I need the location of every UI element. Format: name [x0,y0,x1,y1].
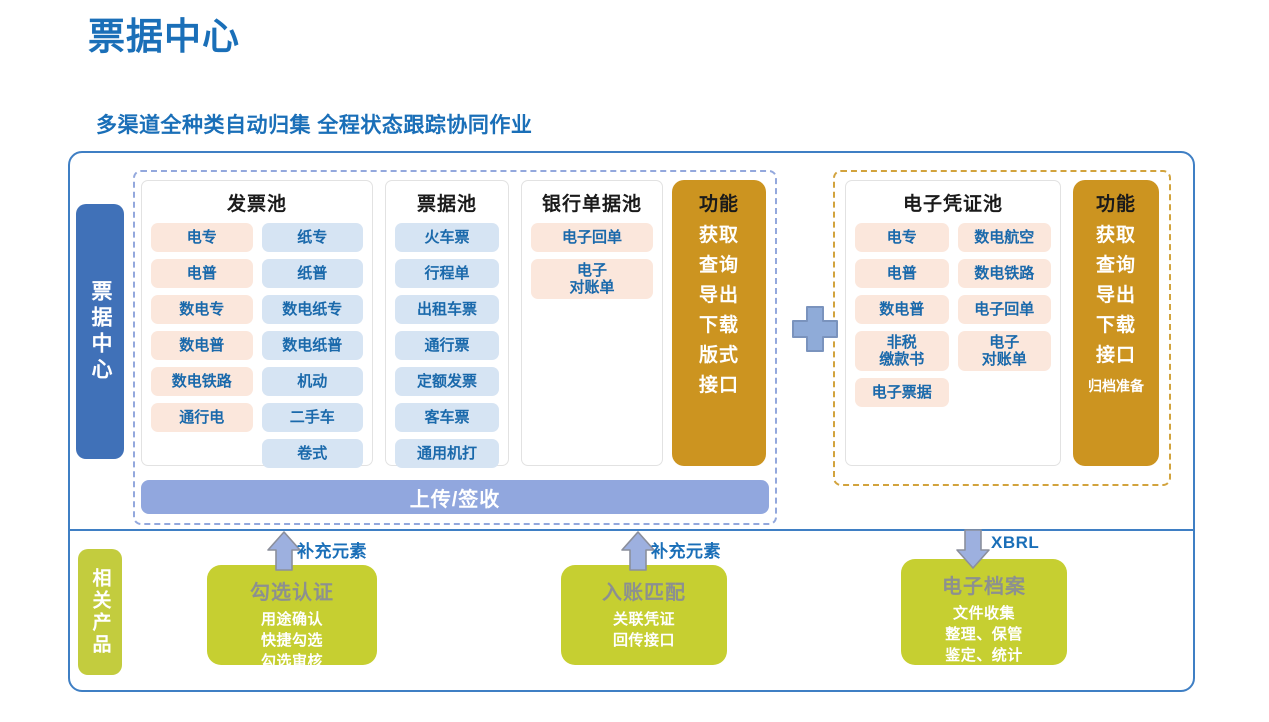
pool-column: 火车票行程单出租车票通行票定额发票客车票通用机打 [395,223,499,468]
product-card-1[interactable]: 入账匹配关联凭证回传接口 [561,565,727,665]
arrow-down-icon-2 [955,528,991,575]
pool-chip[interactable]: 通行票 [395,331,499,360]
pool-chip[interactable]: 出租车票 [395,295,499,324]
function-item[interactable]: 获取 [699,225,739,247]
pool-chip[interactable]: 火车票 [395,223,499,252]
pool-chip[interactable]: 客车票 [395,403,499,432]
page-subtitle: 多渠道全种类自动归集 全程状态跟踪协同作业 [96,109,532,139]
pool-chip[interactable]: 纸普 [262,259,364,288]
pool-chip[interactable]: 数电普 [151,331,253,360]
pool-chip[interactable]: 定额发票 [395,367,499,396]
arrow-label-0: 补充元素 [297,537,367,562]
page-title: 票据中心 [88,14,240,60]
arrow-label-2: XBRL [991,533,1039,553]
function-column-right: 功能获取查询导出下载接口归档准备 [1073,180,1159,466]
pool-card-invoice: 发票池电专电普数电专数电普数电铁路通行电纸专纸普数电纸专数电纸普机动二手车卷式 [141,180,373,466]
plus-icon [789,303,841,355]
function-item[interactable]: 下载 [699,315,739,337]
pool-chip[interactable]: 电普 [151,259,253,288]
pool-chip[interactable]: 电子票据 [855,378,949,407]
arrow-label-1: 补充元素 [651,537,721,562]
pool-chip[interactable]: 行程单 [395,259,499,288]
pool-chip[interactable]: 数电航空 [958,223,1052,252]
function-item[interactable]: 导出 [1096,285,1136,307]
pool-title: 电子凭证池 [855,189,1051,216]
pool-chip[interactable]: 电子对账单 [531,259,653,299]
sidebar-label-bill-center: 票据中心 [76,204,124,459]
pool-chip[interactable]: 数电纸普 [262,331,364,360]
product-feature-list: 关联凭证回传接口 [613,609,675,651]
pool-chip[interactable]: 卷式 [262,439,364,468]
pool-chip[interactable]: 数电铁路 [958,259,1052,288]
function-item[interactable]: 接口 [699,375,739,397]
pool-chip[interactable]: 电子回单 [531,223,653,252]
pool-chip[interactable]: 数电铁路 [151,367,253,396]
function-title: 功能 [699,189,739,216]
sidebar-label-related-products: 相关产品 [78,549,122,675]
function-item[interactable]: 获取 [1096,225,1136,247]
pool-columns: 电专电普数电普非税缴款书电子票据数电航空数电铁路电子回单电子对账单 [855,223,1051,407]
pool-columns: 火车票行程单出租车票通行票定额发票客车票通用机打 [395,223,499,468]
pool-columns: 电子回单电子对账单 [531,223,653,299]
pool-title: 票据池 [395,189,499,216]
pool-card-bill: 票据池火车票行程单出租车票通行票定额发票客车票通用机打 [385,180,509,466]
pool-title: 发票池 [151,189,363,216]
pool-chip[interactable]: 纸专 [262,223,364,252]
pool-chip[interactable]: 电专 [151,223,253,252]
function-item[interactable]: 导出 [699,285,739,307]
pool-chip[interactable]: 通用机打 [395,439,499,468]
pool-chip[interactable]: 电子对账单 [958,331,1052,371]
pool-chip[interactable]: 非税缴款书 [855,331,949,371]
pool-column: 电子回单电子对账单 [531,223,653,299]
function-item[interactable]: 查询 [1096,255,1136,277]
function-column-left: 功能获取查询导出下载版式接口 [672,180,766,466]
pool-chip[interactable]: 二手车 [262,403,364,432]
function-title: 功能 [1096,189,1136,216]
pool-title: 银行单据池 [531,189,653,216]
product-title: 勾选认证 [250,576,334,605]
pool-chip[interactable]: 机动 [262,367,364,396]
product-title: 入账匹配 [602,576,686,605]
pool-chip[interactable]: 数电普 [855,295,949,324]
pool-columns: 电专电普数电专数电普数电铁路通行电纸专纸普数电纸专数电纸普机动二手车卷式 [151,223,363,468]
upload-signoff-bar[interactable]: 上传/签收 [141,480,769,514]
product-card-0[interactable]: 勾选认证用途确认快捷勾选勾选审核 [207,565,377,665]
pool-column: 电专电普数电专数电普数电铁路通行电 [151,223,253,468]
function-item[interactable]: 查询 [699,255,739,277]
function-item[interactable]: 版式 [699,345,739,367]
product-feature-list: 文件收集整理、保管鉴定、统计 [945,603,1023,666]
function-item[interactable]: 接口 [1096,345,1136,367]
pool-card-bank: 银行单据池电子回单电子对账单 [521,180,663,466]
pool-chip[interactable]: 电专 [855,223,949,252]
pool-column: 电专电普数电普非税缴款书电子票据 [855,223,949,407]
pool-chip[interactable]: 电子回单 [958,295,1052,324]
pool-chip[interactable]: 数电专 [151,295,253,324]
pool-column: 数电航空数电铁路电子回单电子对账单 [958,223,1052,407]
function-item[interactable]: 下载 [1096,315,1136,337]
pool-column: 纸专纸普数电纸专数电纸普机动二手车卷式 [262,223,364,468]
pool-card-evoucher: 电子凭证池电专电普数电普非税缴款书电子票据数电航空数电铁路电子回单电子对账单 [845,180,1061,466]
pool-chip[interactable]: 数电纸专 [262,295,364,324]
pool-chip[interactable]: 通行电 [151,403,253,432]
product-feature-list: 用途确认快捷勾选勾选审核 [261,609,323,672]
pool-chip[interactable]: 电普 [855,259,949,288]
diagram-page: 票据中心 多渠道全种类自动归集 全程状态跟踪协同作业 票据中心 相关产品 发票池… [0,0,1269,722]
function-item-secondary[interactable]: 归档准备 [1088,375,1144,397]
